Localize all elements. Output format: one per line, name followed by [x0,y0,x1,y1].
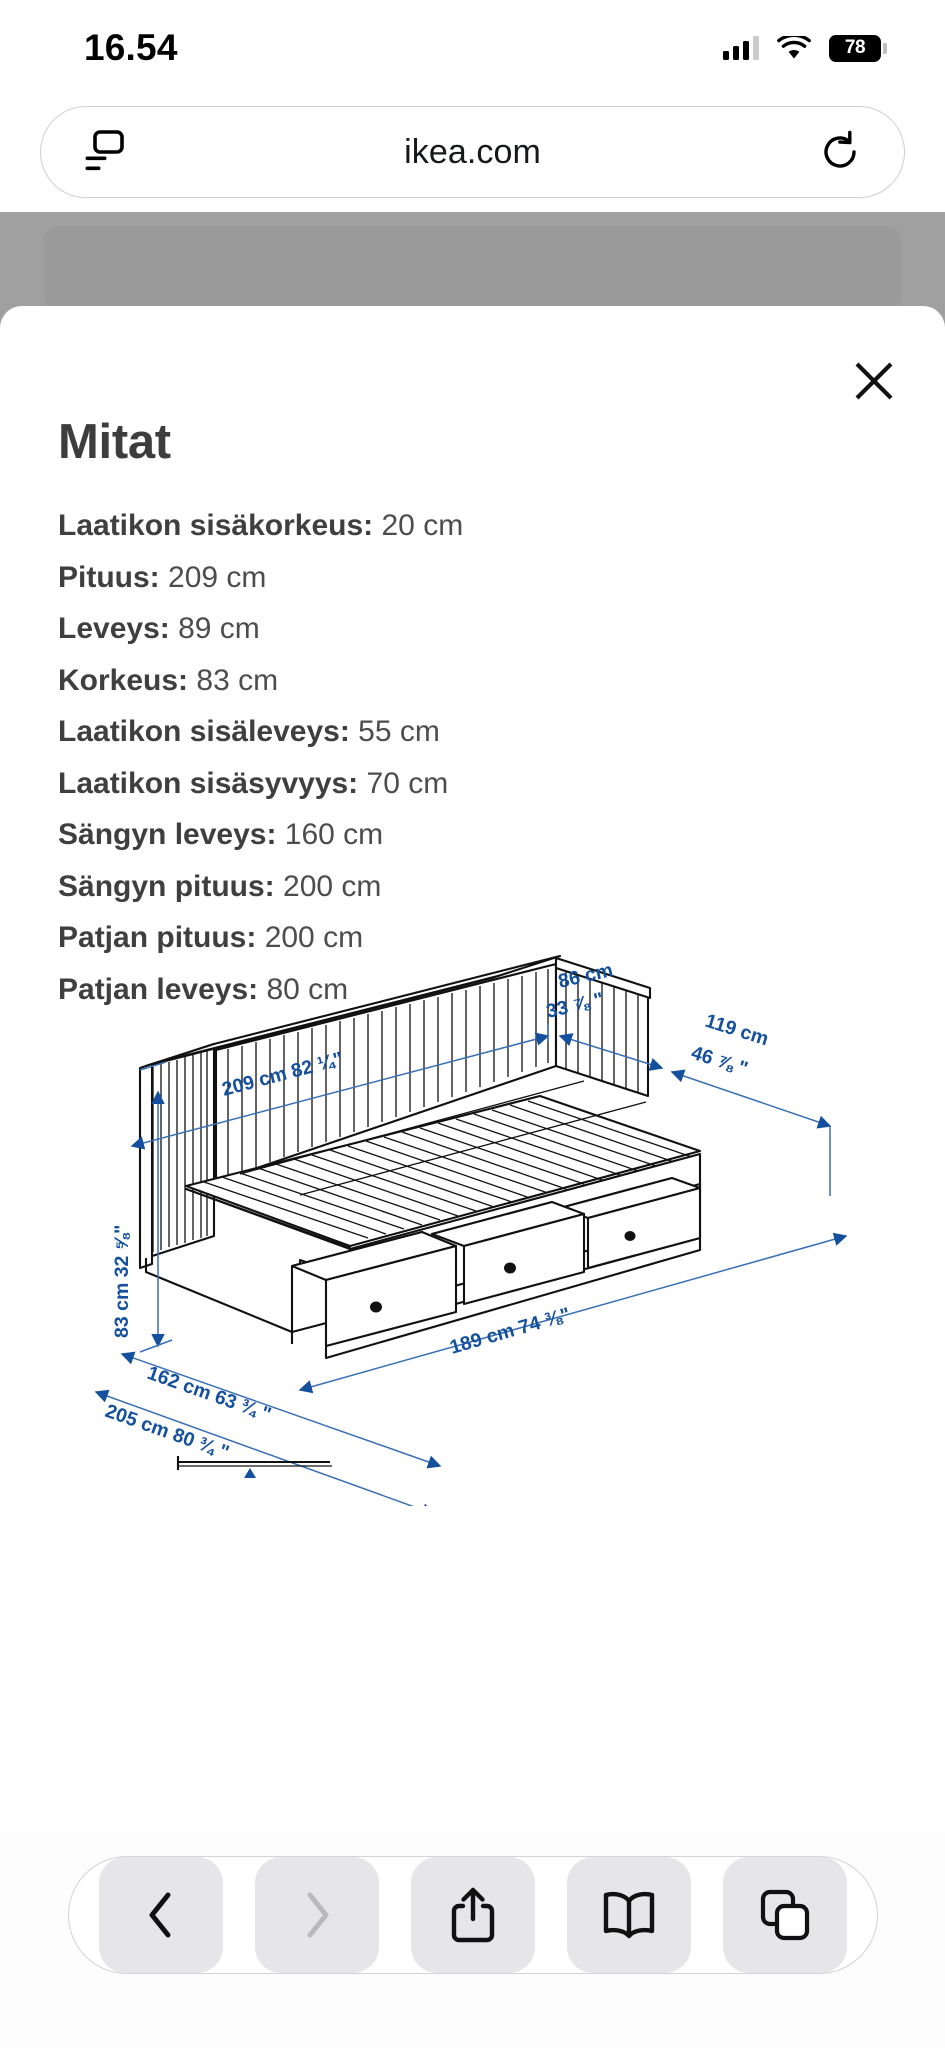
dim-height-left: 83 cm 32 ⅝" [111,1225,133,1338]
list-item: Sängyn leveys: 160 cm [58,809,905,861]
url-text[interactable]: ikea.com [131,133,814,172]
spec-value: 55 cm [358,715,440,748]
status-indicators: 78 [723,35,881,62]
spec-value: 89 cm [178,612,260,645]
browser-toolbar-container [0,1828,945,2048]
list-item: Pituus: 209 cm [58,552,905,604]
spec-value: 70 cm [367,767,449,800]
dim-depth-right-line1: 119 cm [702,1010,771,1051]
dim-depth-right-line2: 46 ⅞ " [688,1042,750,1080]
list-item: Laatikon sisäkorkeus: 20 cm [58,500,905,552]
spec-label: Pituus: [58,561,160,594]
spec-label: Sängyn leveys: [58,818,276,851]
list-item: Korkeus: 83 cm [58,655,905,707]
spec-value: 209 cm [168,561,266,594]
spec-value: 160 cm [285,818,383,851]
cellular-bars-icon [723,36,759,60]
bookmarks-book-icon[interactable] [567,1857,691,1973]
spec-value: 20 cm [381,509,463,542]
page-title: Mitat [58,414,171,470]
dimensions-modal-sheet: Mitat Laatikon sisäkorkeus: 20 cm Pituus… [0,306,945,1912]
battery-icon: 78 [829,35,881,62]
dimensions-diagram: .ln { stroke:#111; fill:none; stroke-wid… [0,946,945,1506]
spec-label: Leveys: [58,612,170,645]
browser-toolbar [68,1856,878,1974]
status-time: 16.54 [84,27,178,69]
backdrop-ghost-card [44,226,901,312]
page-settings-icon[interactable] [77,125,131,179]
spec-label: Korkeus: [58,664,188,697]
dim-drawer-run-bottom: 189 cm 74 ⅜" [447,1303,572,1358]
dim-depth-front-lower: 205 cm 80 ¾ " [102,1400,232,1464]
forward-chevron-icon[interactable] [255,1857,379,1973]
tabs-icon[interactable] [723,1857,847,1973]
wifi-icon [777,36,811,61]
scale-ruler [178,1456,332,1478]
spec-label: Sängyn pituus: [58,870,275,903]
share-icon[interactable] [411,1857,535,1973]
spec-value: 200 cm [283,870,381,903]
list-item: Sängyn pituus: 200 cm [58,861,905,913]
dimensions-list: Laatikon sisäkorkeus: 20 cm Pituus: 209 … [58,500,905,1015]
spec-label: Laatikon sisäleveys: [58,715,350,748]
reload-icon[interactable] [814,125,868,179]
status-bar: 16.54 78 [0,0,945,96]
spec-value: 83 cm [196,664,278,697]
browser-url-bar-container: ikea.com [0,106,945,212]
list-item: Leveys: 89 cm [58,603,905,655]
battery-percent: 78 [845,37,865,59]
close-icon[interactable] [843,350,905,412]
back-chevron-icon[interactable] [99,1857,223,1973]
spec-label: Laatikon sisäsyvyys: [58,767,358,800]
spec-label: Laatikon sisäkorkeus: [58,509,373,542]
list-item: Laatikon sisäsyvyys: 70 cm [58,758,905,810]
list-item: Laatikon sisäleveys: 55 cm [58,706,905,758]
url-bar[interactable]: ikea.com [40,106,905,198]
